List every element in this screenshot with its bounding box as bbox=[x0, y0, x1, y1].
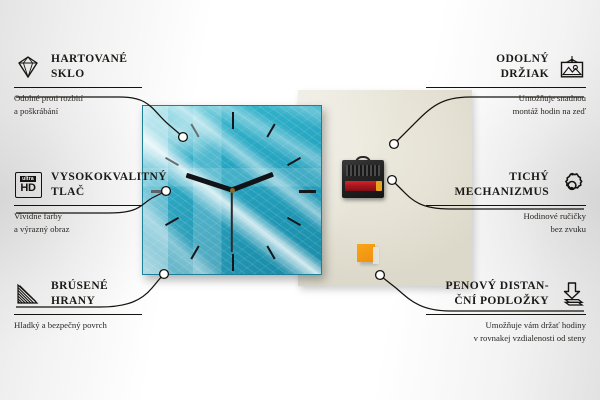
feature-title: TICHÝMECHANIZMUS bbox=[414, 170, 549, 199]
feature-header: ODOLNÝDRŽIAK bbox=[414, 50, 586, 84]
divider bbox=[14, 87, 142, 88]
divider bbox=[426, 87, 586, 88]
divider bbox=[426, 314, 586, 315]
divider bbox=[426, 205, 586, 206]
feature-title: VYSOKOKVALITNÝTLAČ bbox=[51, 170, 186, 199]
feature-high-quality-print: ultra HD VYSOKOKVALITNÝTLAČ Vivídne farb… bbox=[14, 168, 186, 235]
feature-header: ultra HD VYSOKOKVALITNÝTLAČ bbox=[14, 168, 186, 202]
feature-header: TICHÝMECHANIZMUS bbox=[414, 168, 586, 202]
dial-tick bbox=[232, 112, 234, 129]
diamond-icon bbox=[14, 53, 42, 81]
hanging-picture-frame-icon bbox=[558, 53, 586, 81]
divider bbox=[14, 205, 142, 206]
feature-description: Hodinové ručičkybez zvuku bbox=[414, 210, 586, 235]
dial-tick bbox=[232, 254, 234, 271]
clock-mechanism bbox=[342, 156, 384, 198]
clock-center-pin bbox=[230, 188, 235, 193]
feature-description: Vivídne farbya výrazný obraz bbox=[14, 210, 186, 235]
feature-description: Umožňuje snadnoumontáž hodin na zeď bbox=[414, 92, 586, 117]
feature-tempered-glass: HARTOVANÉSKLO Odolné proti rozbitía pošk… bbox=[14, 50, 186, 117]
feature-silent-mechanism: TICHÝMECHANIZMUS Hodinové ručičkybez zvu… bbox=[414, 168, 586, 235]
dial-tick bbox=[299, 190, 316, 193]
feature-title: ODOLNÝDRŽIAK bbox=[414, 52, 549, 81]
ultra-hd-icon: ultra HD bbox=[14, 171, 42, 199]
feature-polished-edges: BRÚSENÉHRANY Hladký a bezpečný povrch bbox=[14, 277, 186, 332]
stacked-down-arrow-icon bbox=[558, 280, 586, 308]
battery bbox=[345, 181, 377, 191]
hd-badge-label: HD bbox=[20, 183, 35, 194]
feature-header: BRÚSENÉHRANY bbox=[14, 277, 186, 311]
beveled-edge-icon bbox=[14, 280, 42, 308]
feature-description: Odolné proti rozbitía poškrábání bbox=[14, 92, 186, 117]
divider bbox=[14, 314, 142, 315]
feature-title: BRÚSENÉHRANY bbox=[51, 279, 186, 308]
feature-title: PENOVÝ DISTAN-ČNÍ PODLOŽKY bbox=[414, 279, 549, 308]
feature-description: Hladký a bezpečný povrch bbox=[14, 319, 186, 332]
feature-description: Umožňuje vám držať hodinyv rovnakej vzdi… bbox=[414, 319, 586, 344]
battery-terminal bbox=[376, 181, 382, 191]
infographic-canvas: HARTOVANÉSKLO Odolné proti rozbitía pošk… bbox=[0, 0, 600, 400]
foam-spacer-pad bbox=[357, 244, 375, 262]
hd-badge: ultra HD bbox=[15, 172, 42, 198]
clock-second-hand bbox=[231, 190, 233, 252]
gear-icon bbox=[558, 171, 586, 199]
feature-header: PENOVÝ DISTAN-ČNÍ PODLOŽKY bbox=[414, 277, 586, 311]
mechanism-ridges bbox=[346, 165, 380, 176]
feature-foam-spacer-pads: PENOVÝ DISTAN-ČNÍ PODLOŽKY Umožňuje vám … bbox=[414, 277, 586, 344]
feature-title: HARTOVANÉSKLO bbox=[51, 52, 186, 81]
feature-header: HARTOVANÉSKLO bbox=[14, 50, 186, 84]
feature-durable-holder: ODOLNÝDRŽIAK Umožňuje snadnoumontáž hodi… bbox=[414, 50, 586, 117]
